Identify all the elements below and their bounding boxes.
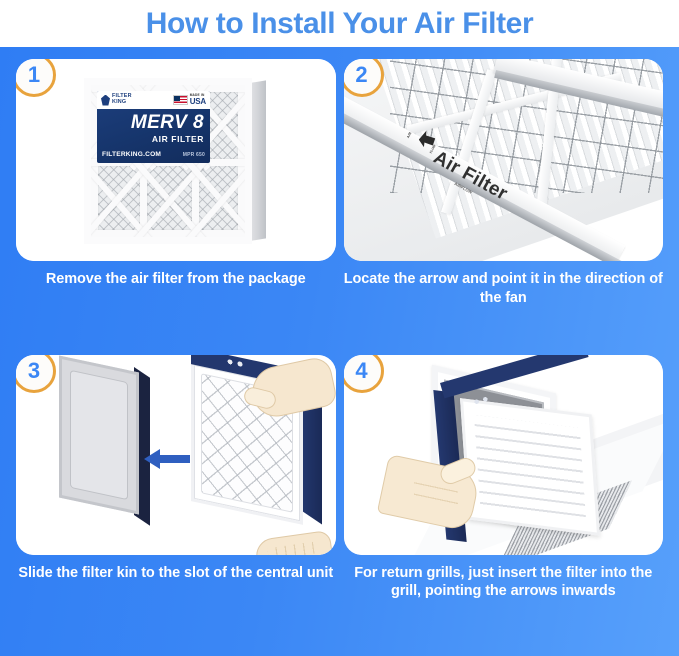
step-3-card: 3 (16, 355, 336, 555)
central-unit-inner-panel (70, 369, 128, 499)
page-title: How to Install Your Air Filter (146, 9, 533, 39)
header-bar: How to Install Your Air Filter (0, 0, 679, 47)
step-1-scene: FILTER KING MADE IN USA (16, 59, 336, 261)
left-arrow-icon (144, 447, 190, 471)
step-3-number: 3 (28, 360, 40, 382)
usa-flag-icon (173, 95, 188, 105)
brand-name: FILTER KING (112, 94, 132, 105)
product-label: FILTER KING MADE IN USA (97, 91, 210, 163)
step-4: 4 For return grills, just insert the fil… (344, 355, 664, 649)
label-subtitle: AIR FILTER (97, 135, 204, 144)
step-2-scene: AIR FLOW Air Filter AIRFLOW (344, 59, 664, 261)
grill-louvers (473, 414, 585, 518)
step-3-caption: Slide the filter kin to the slot of the … (16, 564, 336, 583)
step-1-caption: Remove the air filter from the package (16, 270, 336, 289)
brand-logo: FILTER KING (101, 94, 132, 105)
step-1-number: 1 (28, 64, 40, 86)
country-text: USA (190, 98, 206, 106)
brand-line-2: KING (112, 99, 126, 105)
crown-icon (101, 95, 110, 106)
step-4-number: 4 (355, 360, 367, 382)
merv-rating: MERV 8 (97, 113, 204, 132)
step-2-caption: Locate the arrow and point it in the dir… (344, 270, 664, 308)
filter-front-face: FILTER KING MADE IN USA (84, 78, 252, 244)
step-2-card: AIR FLOW Air Filter AIRFLOW 2 (344, 59, 664, 261)
central-unit-slot (59, 355, 139, 514)
mpr-rating: MPR 650 (183, 152, 205, 158)
step-4-caption: For return grills, just insert the filte… (344, 564, 664, 602)
air-filter-product: FILTER KING MADE IN USA (84, 78, 252, 244)
step-4-scene (344, 355, 664, 555)
step-1-card: FILTER KING MADE IN USA (16, 59, 336, 261)
label-header-strip: FILTER KING MADE IN USA (97, 91, 210, 109)
step-4-card: 4 (344, 355, 664, 555)
made-in-usa-mark: MADE IN USA (173, 94, 206, 105)
steps-grid: FILTER KING MADE IN USA (0, 47, 679, 656)
filter-top-slots (225, 357, 245, 368)
step-3-scene (16, 355, 336, 555)
brand-website: FILTERKING.COM (102, 151, 161, 158)
infographic-poster: How to Install Your Air Filter (0, 0, 679, 656)
step-1: FILTER KING MADE IN USA (16, 59, 336, 353)
step-2: AIR FLOW Air Filter AIRFLOW 2 Locate the… (344, 59, 664, 353)
return-grill (459, 398, 599, 536)
step-2-number: 2 (355, 64, 367, 86)
grill-panel (459, 398, 599, 536)
step-3: 3 Slide the filter kin to the slot of th… (16, 355, 336, 649)
